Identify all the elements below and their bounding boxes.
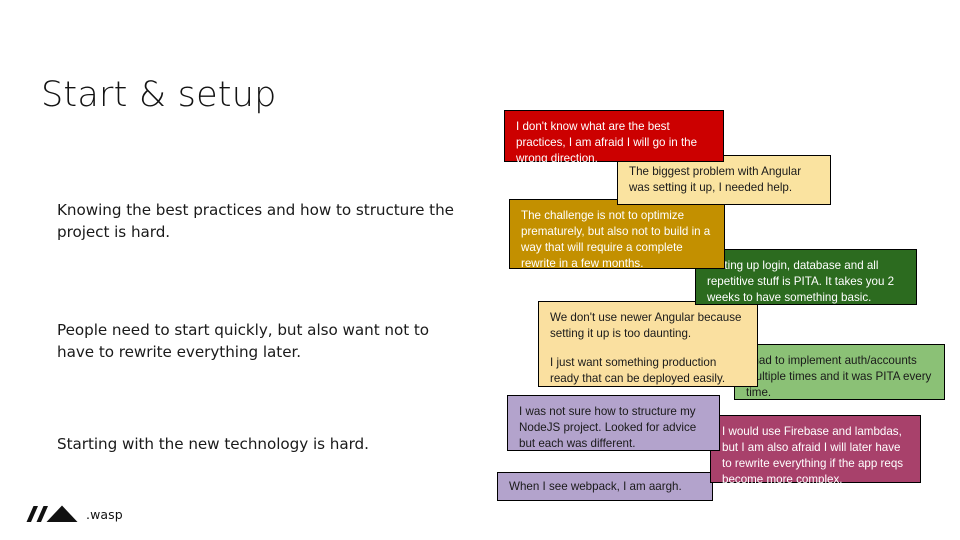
left-point-1: Knowing the best practices and how to st… (57, 200, 485, 243)
wasp-slashes-triangle-icon (26, 503, 79, 525)
footer-logo: .wasp (26, 503, 123, 525)
left-point-3: Starting with the new technology is hard… (57, 434, 469, 456)
left-point-2: People need to start quickly, but also w… (57, 320, 469, 363)
quote-text: The challenge is not to optimize prematu… (521, 208, 714, 272)
quote-text-secondary: I just want something production ready t… (550, 355, 747, 387)
quote-card-4: Setting up login, database and all repet… (695, 249, 917, 305)
quote-card-9: When I see webpack, I am aargh. (497, 472, 713, 501)
quote-text: I was not sure how to structure my NodeJ… (519, 404, 709, 452)
quote-card-3: The challenge is not to optimize prematu… (509, 199, 725, 269)
slide-canvas: Start & setup Knowing the best practices… (0, 0, 960, 540)
quote-text: The biggest problem with Angular was set… (629, 164, 820, 196)
quote-text: We don't use newer Angular because setti… (550, 310, 747, 342)
quote-card-1: I don't know what are the best practices… (504, 110, 724, 162)
quote-text: I don't know what are the best practices… (516, 119, 713, 167)
quote-text: I had to implement auth/accounts multipl… (746, 353, 934, 401)
quote-card-8: I would use Firebase and lambdas, but I … (710, 415, 921, 483)
quote-card-7: I was not sure how to structure my NodeJ… (507, 395, 720, 451)
quote-text: I would use Firebase and lambdas, but I … (722, 424, 910, 488)
quote-text: When I see webpack, I am aargh. (509, 479, 702, 495)
quote-card-6: I had to implement auth/accounts multipl… (734, 344, 945, 400)
logo-text: .wasp (86, 507, 123, 522)
page-title: Start & setup (41, 75, 277, 115)
quote-card-5: We don't use newer Angular because setti… (538, 301, 758, 387)
quote-text: Setting up login, database and all repet… (707, 258, 906, 306)
